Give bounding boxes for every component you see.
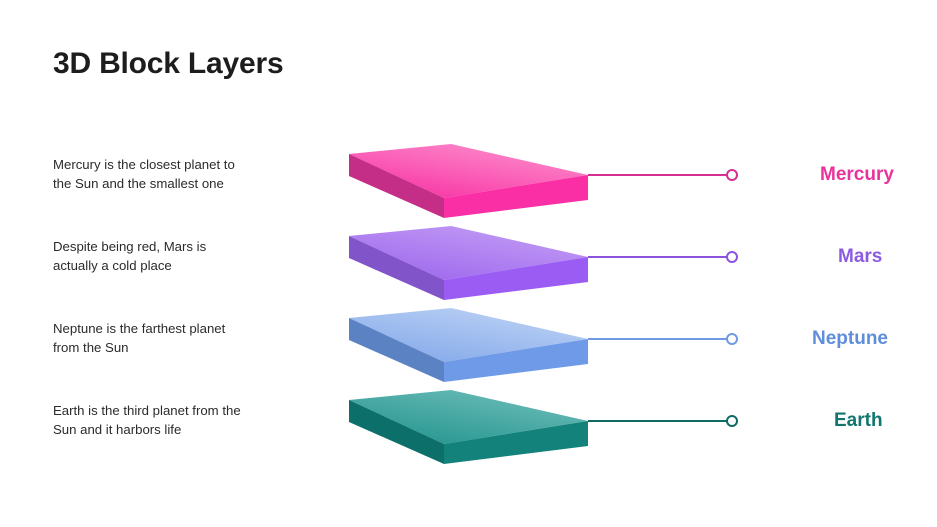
layer-row-neptune[interactable]: Neptune is the farthest planet from the … xyxy=(0,304,937,386)
connector-line xyxy=(588,174,730,176)
layer-description-mercury: Mercury is the closest planet to the Sun… xyxy=(53,156,303,193)
description-line-1: Neptune is the farthest planet xyxy=(53,320,303,339)
description-line-1: Mercury is the closest planet to xyxy=(53,156,303,175)
connector-line xyxy=(588,338,730,340)
layer-description-neptune: Neptune is the farthest planet from the … xyxy=(53,320,303,357)
connector-endpoint-dot[interactable] xyxy=(726,415,738,427)
description-line-1: Despite being red, Mars is xyxy=(53,238,303,257)
block-3d-neptune[interactable] xyxy=(343,304,603,384)
layer-row-earth[interactable]: Earth is the third planet from the Sun a… xyxy=(0,386,937,468)
slide-canvas: 3D Block Layers Mercury is the closest p… xyxy=(0,0,937,527)
connector-line xyxy=(588,256,730,258)
layer-label-mars[interactable]: Mars xyxy=(838,246,882,268)
layer-row-mercury[interactable]: Mercury is the closest planet to the Sun… xyxy=(0,140,937,222)
layer-label-mercury[interactable]: Mercury xyxy=(820,164,894,186)
description-line-1: Earth is the third planet from the xyxy=(53,402,303,421)
connector-endpoint-dot[interactable] xyxy=(726,169,738,181)
connector-endpoint-dot[interactable] xyxy=(726,251,738,263)
connector-line xyxy=(588,420,730,422)
description-line-2: actually a cold place xyxy=(53,257,303,276)
layer-row-mars[interactable]: Despite being red, Mars is actually a co… xyxy=(0,222,937,304)
layer-label-earth[interactable]: Earth xyxy=(834,410,883,432)
description-line-2: from the Sun xyxy=(53,339,303,358)
description-line-2: Sun and it harbors life xyxy=(53,421,303,440)
block-3d-earth[interactable] xyxy=(343,386,603,466)
connector-endpoint-dot[interactable] xyxy=(726,333,738,345)
layer-label-neptune[interactable]: Neptune xyxy=(812,328,888,350)
block-3d-mercury[interactable] xyxy=(343,140,603,220)
page-title: 3D Block Layers xyxy=(53,47,283,81)
description-line-2: the Sun and the smallest one xyxy=(53,175,303,194)
layer-description-earth: Earth is the third planet from the Sun a… xyxy=(53,402,303,439)
block-3d-mars[interactable] xyxy=(343,222,603,302)
layer-description-mars: Despite being red, Mars is actually a co… xyxy=(53,238,303,275)
